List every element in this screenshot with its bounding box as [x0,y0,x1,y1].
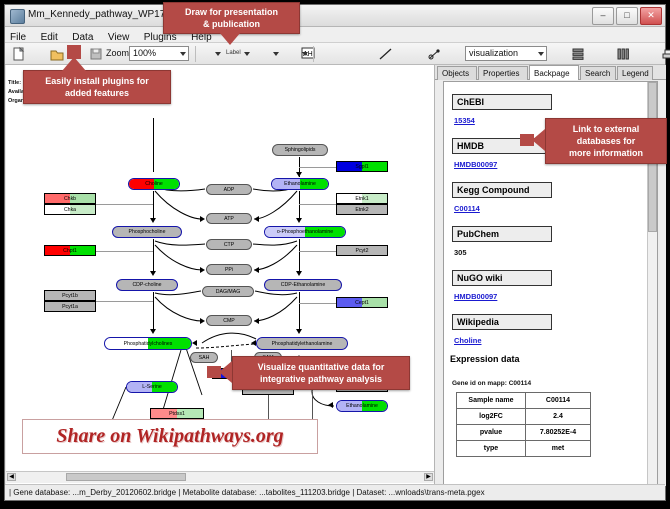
gene-node[interactable]: Sgpl1 [336,161,388,172]
callout-pointer-down-icon [219,32,241,45]
menu-item-view[interactable]: View [103,30,135,43]
cell-value: 2.4 [526,409,591,425]
cell-value: met [526,441,591,457]
menu-item-data[interactable]: Data [67,30,98,43]
maximize-button[interactable]: □ [616,7,638,25]
cell-value: C00114 [526,393,591,409]
node-label: CMP [223,318,235,324]
node-label: Pcyt1b [62,293,78,299]
toolbar: Zoom: 100% AH Label visua [5,43,665,65]
node-label: DAG/MAG [216,289,241,295]
metabolite-node[interactable]: CMP [206,315,252,326]
metabolite-node[interactable]: ADP [206,184,252,195]
visualization-value: visualization [469,48,518,58]
anchor-icon[interactable] [427,46,443,62]
node-label: Pcyt1a [62,304,78,310]
node-label: o-Phosphoethanolamine [277,229,333,235]
cell-label: Sample name [457,393,526,409]
callout-links: Link to external databases for more info… [545,118,667,164]
metabolite-node[interactable]: Phosphatidylethanolamine [256,337,348,350]
panel-tab-bar: Objects Properties Backpage Search Legen… [435,65,666,80]
app-icon [10,9,25,24]
zoom-value: 100% [133,48,156,58]
table-row: pvalue 7.80252E-4 [457,425,591,441]
db-link-kegg[interactable]: C00114 [454,204,480,213]
node-label: ADP [224,187,235,193]
gene-node[interactable]: Cept1 [336,297,388,308]
node-label: Choline [145,181,163,187]
menu-item-file[interactable]: File [5,30,31,43]
db-link-hmdb[interactable]: HMDB00097 [454,160,497,169]
window-controls: – □ ✕ [592,7,662,25]
title-bar: Mm_Kennedy_pathway_WP1771_45176.gpml – □… [5,5,665,27]
cell-value: 7.80252E-4 [526,425,591,441]
node-label: ATP [224,216,234,222]
table-row: type met [457,441,591,457]
tab-search[interactable]: Search [580,66,616,80]
callout-text: Link to external databases for more info… [569,123,643,159]
status-bar: | Gene database: ...m_Derby_20120602.bri… [5,484,665,500]
zoom-combo[interactable]: 100% [129,46,189,61]
node-label: Chka [64,207,76,213]
node-label: Phosphocholine [129,229,166,235]
callout-text: Easily install plugins for added feature… [45,75,149,99]
callout-plugins: Easily install plugins for added feature… [23,70,171,104]
scroll-right-arrow[interactable]: ▶ [424,473,433,481]
callout-text: Draw for presentation & publication [185,6,278,30]
db-link-chebi[interactable]: 15354 [454,116,475,125]
db-header-pubchem: PubChem [452,226,552,242]
metabolite-node[interactable]: o-Phosphoethanolamine [264,226,346,238]
menu-item-edit[interactable]: Edit [36,30,63,43]
metabolite-node[interactable]: Choline [128,178,180,190]
node-label: CDP-choline [132,282,161,288]
callout-pointer-left-icon [219,361,232,383]
chevron-down-icon[interactable] [215,52,221,56]
node-label: Etnk2 [355,207,368,213]
callout-visualize: Visualize quantitative data for integrat… [232,356,410,390]
tab-legend[interactable]: Legend [617,66,653,80]
tab-backpage[interactable]: Backpage [529,65,579,80]
menu-bar: File Edit Data View Plugins Help [5,27,665,43]
metabolite-node[interactable]: L-Serine [126,381,178,393]
line-icon[interactable] [378,46,394,62]
distribute-vertical-icon[interactable] [570,46,586,62]
chevron-down-icon [538,52,544,56]
save-icon[interactable] [88,46,104,62]
expression-table: Sample name C00114 log2FC 2.4 pvalue 7.8… [456,392,591,457]
node-label: L-Serine [142,384,162,390]
callout-share: Share on Wikipathways.org [22,419,318,454]
callout-pointer-left-icon [532,129,545,151]
label-button[interactable]: Label [226,50,241,66]
node-label: PPi [225,267,233,273]
db-header-kegg: Kegg Compound [452,182,552,198]
node-label: Pcyt2 [356,248,369,254]
metabolite-node[interactable]: DAG/MAG [202,286,254,297]
node-label: CDP-Ethanolamine [281,282,325,288]
close-button[interactable]: ✕ [640,7,662,25]
node-label: Cept1 [355,300,369,306]
metabolite-node[interactable]: CDP-choline [116,279,178,291]
scroll-thumb[interactable] [66,473,186,481]
db-header-wikipedia: Wikipedia [452,314,552,330]
table-row: log2FC 2.4 [457,409,591,425]
canvas-hscrollbar[interactable]: ◀ ▶ [6,471,434,483]
chevron-down-icon[interactable] [302,52,308,56]
gene-node[interactable]: Chkb [44,193,96,204]
metabolite-node[interactable]: Phosphocholine [112,226,182,238]
node-label: Ethanolamine [284,181,316,187]
tab-properties[interactable]: Properties [478,66,528,80]
gene-node[interactable]: Pcyt1a [44,301,96,312]
node-label: Sphingolipids [285,147,316,153]
db-link-wikipedia[interactable]: Choline [454,336,482,345]
gene-node[interactable]: Chpt1 [44,245,96,256]
metabolite-node[interactable]: SAH [190,352,218,363]
metabolite-node[interactable]: ATP [206,213,252,224]
tab-objects[interactable]: Objects [437,66,477,80]
gene-node[interactable]: Ptdss1 [150,408,204,419]
node-label: CTP [224,242,234,248]
screenshot-root: Mm_Kennedy_pathway_WP1771_45176.gpml – □… [0,0,670,509]
gene-node[interactable]: Pcyt1b [44,290,96,301]
callout-draw: Draw for presentation & publication [163,2,300,34]
chevron-down-icon [180,52,186,56]
scroll-left-arrow[interactable]: ◀ [7,473,16,481]
table-row: Sample name C00114 [457,393,591,409]
cell-label: pvalue [457,425,526,441]
cell-label: type [457,441,526,457]
db-link-nugo[interactable]: HMDB00097 [454,292,497,301]
gene-node[interactable]: Etnk2 [336,204,388,215]
zoom-label: Zoom: [106,48,132,58]
gene-node[interactable]: Etnk1 [336,193,388,204]
node-label: Phosphatidylcholines [124,341,173,347]
cell-label: log2FC [457,409,526,425]
metabolite-node[interactable]: CDP-Ethanolamine [264,279,342,291]
metabolite-node[interactable]: Phosphatidylcholines [104,337,192,350]
node-label: Chkb [64,196,76,202]
gene-id-line: Gene id on mapp: C00114 [452,380,531,387]
node-label: SAH [199,355,210,361]
metabolite-node[interactable]: Ethanolamine [271,178,329,190]
metabolite-node[interactable]: Sphingolipids [272,144,328,156]
node-label: Ptdss1 [169,411,185,417]
db-header-nugo: NuGO wiki [452,270,552,286]
db-header-chebi: ChEBI [452,94,552,110]
node-label: Sgpl1 [355,164,368,170]
chevron-down-icon[interactable] [273,52,279,56]
node-label: Chpt1 [63,248,77,254]
callout-pointer-up-icon [62,57,86,71]
minimize-button[interactable]: – [592,7,614,25]
expression-data-heading: Expression data [450,354,520,364]
new-file-icon[interactable] [11,46,27,62]
visualization-combo[interactable]: visualization [465,46,547,61]
distribute-horizontal-icon[interactable] [615,46,631,62]
gene-node[interactable]: Chka [44,204,96,215]
chevron-down-icon[interactable] [244,52,250,56]
node-label: Phosphatidylethanolamine [272,341,333,347]
node-label: Etnk1 [355,196,368,202]
node-label: Ethanolamine [346,403,378,409]
metabolite-node[interactable]: PPi [206,264,252,275]
stack-icon[interactable] [660,46,670,62]
callout-text: Visualize quantitative data for integrat… [258,361,385,385]
db-value-pubchem: 305 [454,248,467,257]
gene-node[interactable]: Pcyt2 [336,245,388,256]
metabolite-node[interactable]: CTP [206,239,252,250]
metabolite-node[interactable]: Ethanolamine [336,400,388,412]
callout-text: Share on Wikipathways.org [56,425,283,448]
